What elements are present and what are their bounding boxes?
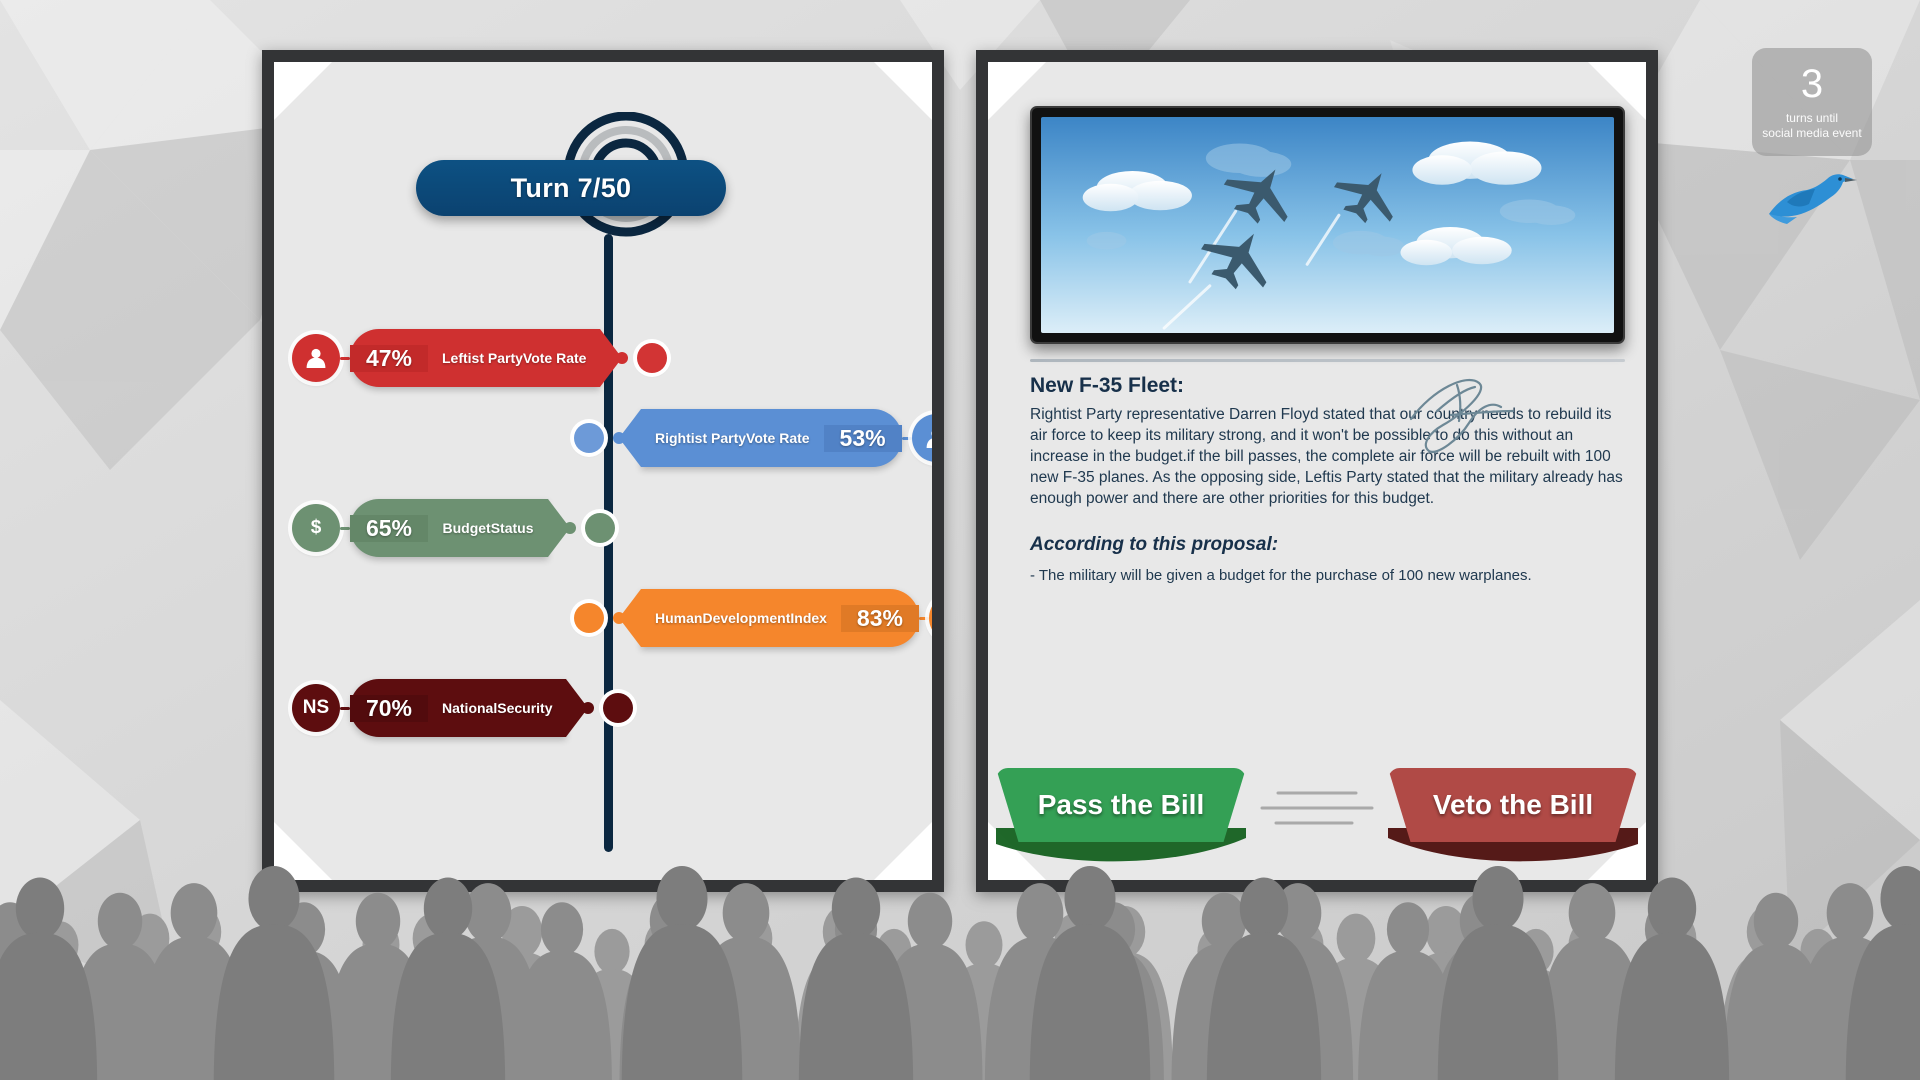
hdi-icon: HDI bbox=[929, 594, 932, 642]
stat-label: BudgetStatus bbox=[428, 499, 548, 557]
hud-countdown-line1: turns until bbox=[1762, 111, 1861, 126]
bill-page: New F-35 Fleet: Rightist Party represent… bbox=[988, 62, 1646, 880]
stat-connector-dash bbox=[919, 617, 929, 620]
ns-icon: NS bbox=[292, 684, 340, 732]
stat-label: HumanDevelopmentIndex bbox=[641, 589, 841, 647]
stat-label: NationalSecurity bbox=[428, 679, 566, 737]
stat-percent: 65% bbox=[350, 515, 428, 542]
stat-label-line1: Leftist Party bbox=[442, 350, 523, 367]
bill-illustration-frame bbox=[1030, 106, 1625, 344]
proposal-item: - The military will be given a budget fo… bbox=[1030, 567, 1630, 584]
audience-silhouettes bbox=[0, 850, 1920, 1080]
person-icon bbox=[912, 414, 932, 462]
veto-the-bill-button[interactable]: Veto the Bill bbox=[1388, 768, 1638, 842]
bill-title: New F-35 Fleet: bbox=[1030, 374, 1184, 398]
signature bbox=[1403, 367, 1533, 462]
stat-label-line2: Security bbox=[497, 700, 552, 717]
stat-label-line1: Rightist Party bbox=[655, 430, 746, 447]
stat-percent: 83% bbox=[841, 605, 919, 632]
stat-row-national-security: NS70%NationalSecurity bbox=[292, 677, 633, 739]
stat-row-budget-status: $65%BudgetStatus bbox=[292, 497, 615, 559]
stat-timeline-node bbox=[574, 603, 604, 633]
stat-connector-dash bbox=[902, 437, 912, 440]
hud-countdown-box: 3 turns until social media event bbox=[1752, 48, 1872, 156]
stat-pill-nose bbox=[619, 409, 641, 467]
stat-label-line2: Development bbox=[702, 610, 790, 627]
stat-label-line2: Vote Rate bbox=[523, 350, 587, 367]
hud-social-media-event: 3 turns until social media event bbox=[1752, 48, 1872, 231]
stat-timeline-node bbox=[637, 343, 667, 373]
person-icon bbox=[292, 334, 340, 382]
bill-book: Turn 7/50 47%Leftist PartyVote RateRight… bbox=[262, 50, 1658, 892]
stat-row-leftist-party-vote-rate: 47%Leftist PartyVote Rate bbox=[292, 327, 667, 389]
proposal-heading-text: According to this proposal bbox=[1030, 534, 1272, 555]
stat-pill-nose bbox=[548, 499, 570, 557]
hud-countdown-number: 3 bbox=[1801, 64, 1823, 104]
stat-label: Rightist PartyVote Rate bbox=[641, 409, 824, 467]
stat-pill-nose bbox=[619, 589, 641, 647]
page-lines-decoration bbox=[1252, 785, 1382, 836]
stats-panel: Turn 7/50 47%Leftist PartyVote RateRight… bbox=[262, 50, 944, 892]
stat-label: Leftist PartyVote Rate bbox=[428, 329, 600, 387]
stat-timeline-node bbox=[603, 693, 633, 723]
stat-connector-dash bbox=[340, 707, 350, 710]
stat-percent: 53% bbox=[824, 425, 902, 452]
stat-label-line1: Budget bbox=[442, 520, 490, 537]
hud-countdown-line2: social media event bbox=[1762, 126, 1861, 141]
stat-pill: 65%BudgetStatus bbox=[350, 499, 548, 557]
pass-button-label: Pass the Bill bbox=[1038, 789, 1205, 821]
stat-row-rightist-party-vote-rate: Rightist PartyVote Rate53% bbox=[574, 407, 932, 469]
stat-pill: Rightist PartyVote Rate53% bbox=[641, 409, 902, 467]
stat-pill: HumanDevelopmentIndex83% bbox=[641, 589, 919, 647]
page-corner-top-left bbox=[274, 62, 332, 120]
stat-label-line3: Index bbox=[790, 610, 827, 627]
stat-percent: 47% bbox=[350, 345, 428, 372]
stat-row-human-development-index: HumanDevelopmentIndex83%HDI bbox=[574, 587, 932, 649]
veto-button-label: Veto the Bill bbox=[1433, 789, 1593, 821]
stat-pill: 47%Leftist PartyVote Rate bbox=[350, 329, 600, 387]
bill-body: Rightist Party representative Darren Flo… bbox=[1030, 404, 1630, 509]
stat-label-line1: Human bbox=[655, 610, 702, 627]
turn-banner: Turn 7/50 bbox=[526, 112, 726, 242]
proposal-heading-colon: : bbox=[1272, 534, 1278, 555]
stat-label-line1: National bbox=[442, 700, 497, 717]
stat-label-line2: Status bbox=[491, 520, 534, 537]
stat-pill-nose bbox=[566, 679, 588, 737]
bird-icon bbox=[1752, 164, 1872, 231]
bill-panel: New F-35 Fleet: Rightist Party represent… bbox=[976, 50, 1658, 892]
page-corner-top-right bbox=[874, 62, 932, 120]
bill-divider bbox=[1030, 359, 1625, 362]
stat-connector-dash bbox=[340, 527, 350, 530]
pass-the-bill-button[interactable]: Pass the Bill bbox=[996, 768, 1246, 842]
dollar-icon: $ bbox=[292, 504, 340, 552]
stat-timeline-node bbox=[574, 423, 604, 453]
stat-label-line2: Vote Rate bbox=[746, 430, 810, 447]
bill-illustration bbox=[1041, 117, 1614, 333]
proposal-heading: According to this proposal: bbox=[1030, 534, 1278, 556]
stat-pill-nose bbox=[600, 329, 622, 387]
stat-percent: 70% bbox=[350, 695, 428, 722]
stats-page: Turn 7/50 47%Leftist PartyVote RateRight… bbox=[274, 62, 932, 880]
stat-connector-dash bbox=[340, 357, 350, 360]
stat-pill: 70%NationalSecurity bbox=[350, 679, 566, 737]
turn-label: Turn 7/50 bbox=[416, 160, 726, 216]
stat-timeline-node bbox=[585, 513, 615, 543]
